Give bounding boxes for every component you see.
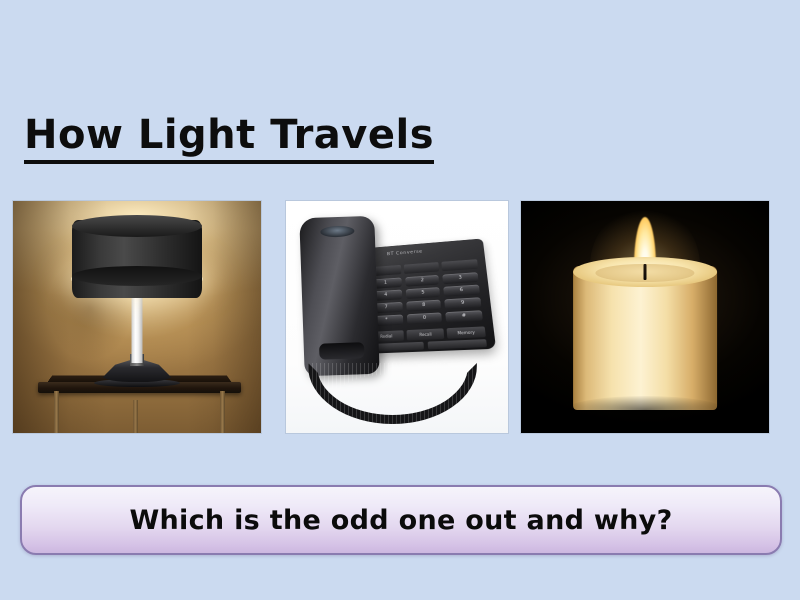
question-text: Which is the odd one out and why? [129, 505, 672, 536]
phone-function-key: Recall [407, 329, 444, 341]
phone-brand-label: BT Converse [387, 250, 423, 258]
lamp-shade-top-rim [72, 215, 202, 237]
image-row: BT Converse 1 2 3 4 5 6 7 8 [0, 200, 800, 434]
phone-lower-key-row [369, 340, 487, 353]
candle-scene [521, 201, 769, 433]
phone-scene: BT Converse 1 2 3 4 5 6 7 8 [286, 201, 508, 433]
candle-body [573, 266, 717, 410]
lamp-table-leg [133, 400, 138, 433]
image-candle [520, 200, 770, 434]
phone-mouthpiece [318, 343, 364, 360]
phone-key: 9 [445, 297, 481, 309]
phone-key: 3 [443, 272, 478, 284]
candle-wick [644, 264, 647, 280]
phone-key: 5 [406, 287, 440, 299]
lamp-table-leg [220, 391, 225, 433]
phone-key: # [446, 310, 483, 322]
image-telephone: BT Converse 1 2 3 4 5 6 7 8 [285, 200, 509, 434]
candle-shadow [566, 396, 725, 424]
question-box: Which is the odd one out and why? [20, 485, 782, 555]
phone-key: 6 [444, 285, 480, 297]
image-lamp [12, 200, 262, 434]
phone-earpiece [320, 226, 355, 238]
phone-key: 0 [408, 313, 443, 325]
phone-key: 2 [406, 275, 440, 287]
phone-function-key: Memory [447, 327, 486, 339]
lamp-table-leg [54, 391, 59, 433]
slide: How Light Travels [0, 0, 800, 600]
phone-handset [299, 216, 380, 376]
phone-key: 8 [407, 300, 442, 312]
phone-memory-key [442, 260, 479, 272]
phone-keypad: 1 2 3 4 5 6 7 8 9 * 0 # [370, 272, 483, 326]
lamp-scene [13, 201, 261, 433]
lamp-shade-bottom-rim [72, 266, 202, 286]
page-title: How Light Travels [24, 114, 434, 164]
phone-memory-key [405, 263, 440, 275]
phone-body: BT Converse 1 2 3 4 5 6 7 8 [361, 239, 496, 354]
phone-coiled-cord [308, 363, 477, 423]
phone-lower-key [429, 340, 488, 351]
